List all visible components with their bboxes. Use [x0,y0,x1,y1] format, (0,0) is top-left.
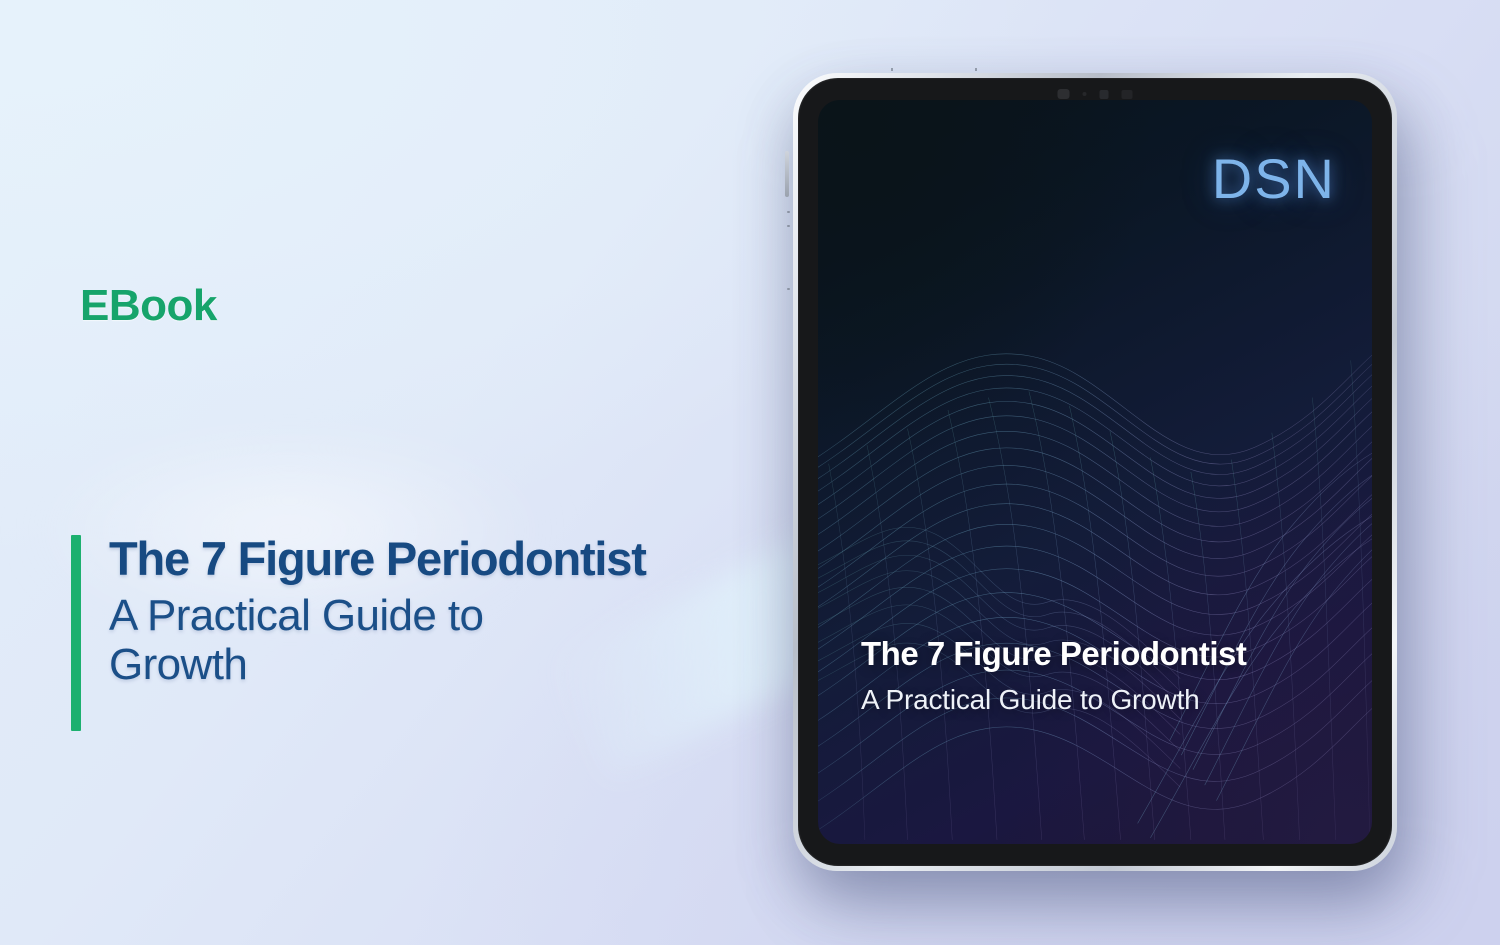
green-accent-bar [71,535,81,731]
tablet-screen[interactable]: DSN [818,100,1372,844]
antenna-line [787,288,790,290]
antenna-line [787,225,790,227]
headline-text-group: The 7 Figure Periodontist A Practical Gu… [81,535,646,731]
tablet-device-mockup: DSN [793,73,1397,871]
cover-subtitle: A Practical Guide to Growth [861,684,1246,716]
page-title: The 7 Figure Periodontist [109,535,646,582]
antenna-line [787,211,790,213]
left-text-column: EBook The 7 Figure Periodontist A Practi… [71,0,791,945]
dsn-logo: DSN [1212,146,1336,211]
antenna-line [975,68,977,71]
ebook-eyebrow-label: EBook [80,281,217,331]
cover-text-block: The 7 Figure Periodontist A Practical Gu… [861,635,1246,716]
ebook-promo-banner: EBook The 7 Figure Periodontist A Practi… [0,0,1500,945]
face-id-sensor-icon [1122,90,1133,99]
cover-title: The 7 Figure Periodontist [861,635,1246,673]
tablet-bezel: DSN [798,78,1392,866]
headline-block: The 7 Figure Periodontist A Practical Gu… [71,535,646,731]
sensor-cluster [1058,89,1133,99]
antenna-line [891,68,893,71]
front-camera-icon [1058,89,1070,99]
proximity-sensor-icon [1100,90,1109,99]
wave-mesh-artwork [818,100,1372,844]
page-subtitle: A Practical Guide to Growth [109,591,629,690]
ambient-light-sensor-icon [1083,92,1087,96]
power-button[interactable] [785,151,789,197]
